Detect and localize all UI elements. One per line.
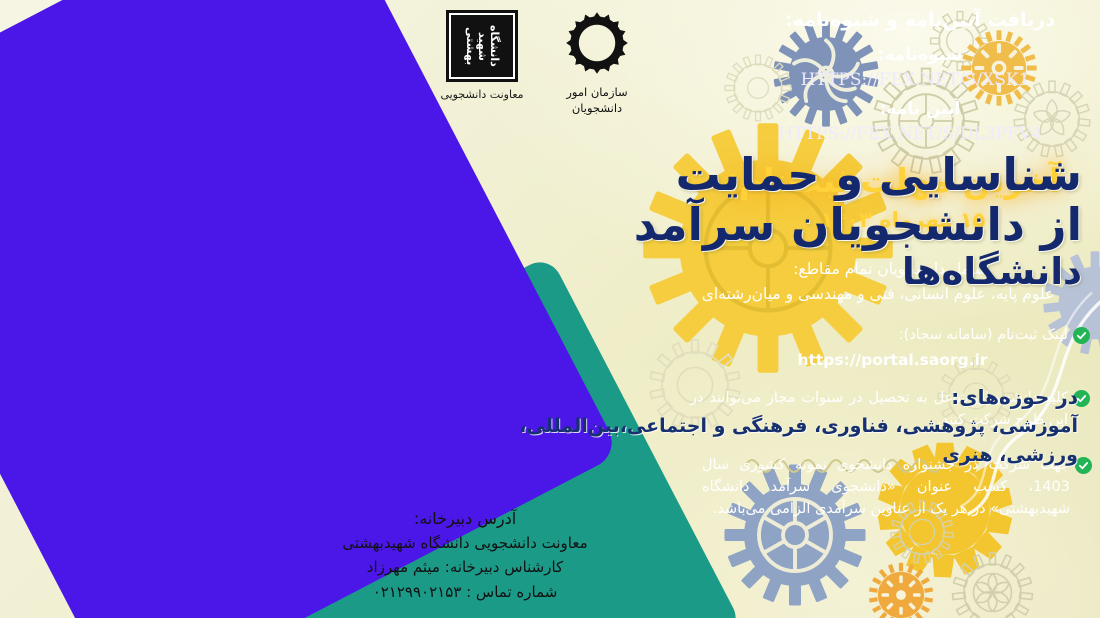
secretariat-title: آدرس دبیرخانه:	[300, 506, 630, 532]
bullet-item-1: لینک ثبت‌نام (سامانه سجاد): https://port…	[695, 325, 1090, 369]
student-affairs-organization-logo: سازمان امور دانشجویان	[537, 8, 657, 116]
poster-root: دریافت آیین‌نامه و شیوه‌نامه: شیوه‌نامه:…	[0, 0, 1100, 618]
secretariat-section: آدرس دبیرخانه: معاونت دانشجویی دانشگاه ش…	[300, 506, 630, 604]
shahid-beheshti-university-logo: دانشگاه شهید بهشتی معاونت دانشجویی	[427, 10, 537, 102]
title-line-3: دانشگاه‌ها	[562, 251, 1082, 292]
university-emblem-text: دانشگاه شهید بهشتی	[464, 15, 500, 77]
university-emblem-inner: دانشگاه شهید بهشتی	[449, 13, 515, 79]
starburst-emblem-icon	[562, 8, 632, 78]
logo-strip: دانشگاه شهید بهشتی معاونت دانشجویی	[0, 4, 1100, 116]
registration-portal-link[interactable]: https://portal.saorg.ir	[695, 351, 1090, 369]
university-emblem-icon: دانشگاه شهید بهشتی	[446, 10, 518, 82]
secretariat-line-1: معاونت دانشجویی دانشگاه شهیدبهشتی	[300, 531, 630, 555]
university-logo-caption: معاونت دانشجویی	[427, 88, 537, 102]
secretariat-phone[interactable]: شماره تماس : ۰۲۱۲۹۹۰۲۱۵۳	[300, 580, 630, 604]
fields-section: در حوزه‌های: آموزشی، پژوهشی، فناوری، فره…	[438, 382, 1078, 469]
title-line-2: از دانشجویان سرآمد	[562, 200, 1082, 250]
fields-heading: در حوزه‌های:	[438, 382, 1078, 412]
organization-logo-caption-line2: دانشجویان	[537, 101, 657, 117]
check-icon	[1073, 327, 1090, 344]
secretariat-line-2: کارشناس دبیرخانه: میثم مهرزاد	[300, 555, 630, 579]
fields-list: آموزشی، پژوهشی، فناوری، فرهنگی و اجتماعی…	[438, 412, 1078, 469]
poster-title: شناسایی و حمایت از دانشجویان سرآمد دانشگ…	[562, 150, 1082, 292]
bylaw-url-link[interactable]: HTTPS://FEX.NET/S/DL3PFV4	[740, 122, 1080, 147]
title-line-1: شناسایی و حمایت	[562, 150, 1082, 200]
organization-logo-caption-line1: سازمان امور	[537, 85, 657, 101]
bullet-text-1: لینک ثبت‌نام (سامانه سجاد):	[899, 325, 1068, 347]
